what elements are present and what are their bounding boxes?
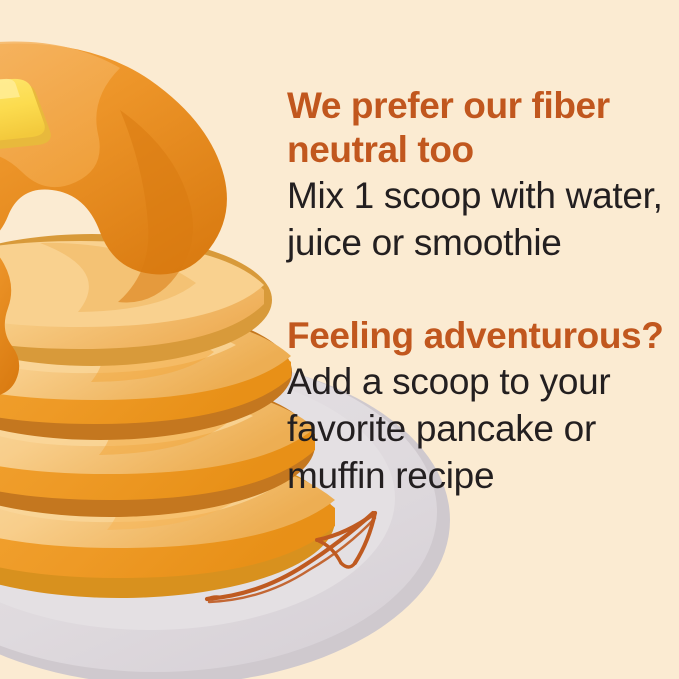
curved-arrow-icon <box>195 505 405 620</box>
pancake-second <box>0 304 292 440</box>
recipe-suggestion-block: Feeling adventurous? Add a scoop to your… <box>287 314 667 499</box>
butter-pat <box>0 79 51 155</box>
mixing-instructions-block: We prefer our fiber neutral too Mix 1 sc… <box>287 84 667 266</box>
poster-canvas: We prefer our fiber neutral too Mix 1 sc… <box>0 0 679 679</box>
copy-column: We prefer our fiber neutral too Mix 1 sc… <box>287 84 667 499</box>
recipe-suggestion-body: Add a scoop to your favorite pancake or … <box>287 358 667 499</box>
pancake-top <box>0 234 272 366</box>
syrup-drip <box>0 42 227 398</box>
recipe-suggestion-heading: Feeling adventurous? <box>287 314 667 358</box>
pancake-third <box>0 373 315 517</box>
mixing-instructions-body: Mix 1 scoop with water, juice or smoothi… <box>287 172 667 266</box>
mixing-instructions-heading: We prefer our fiber neutral too <box>287 84 667 172</box>
